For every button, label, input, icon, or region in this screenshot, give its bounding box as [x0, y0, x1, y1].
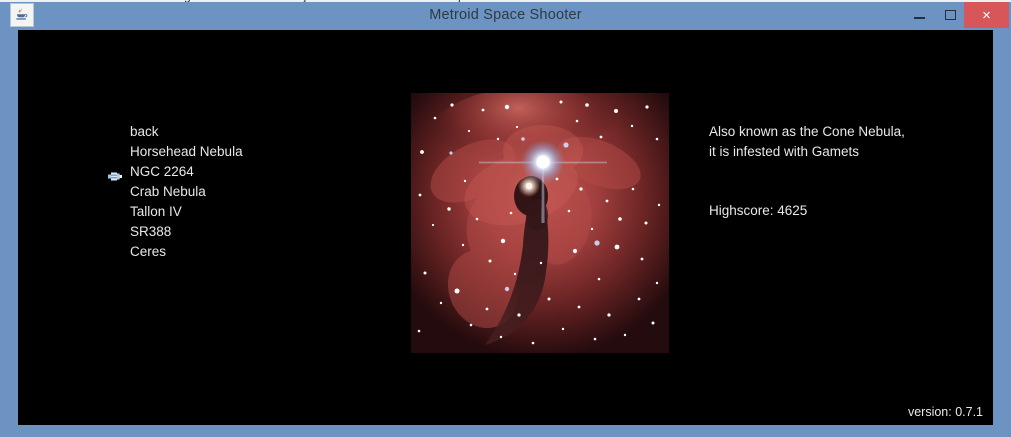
- menu-item-label: Ceres: [130, 242, 166, 262]
- level-description-line-2: it is infested with Gamets: [709, 142, 979, 162]
- minimize-icon[interactable]: [905, 2, 933, 28]
- window-title: Metroid Space Shooter: [0, 7, 1011, 23]
- menu-item-horsehead-nebula[interactable]: Horsehead Nebula: [110, 142, 360, 162]
- menu-item-label: Tallon IV: [130, 202, 182, 222]
- maximize-glyph: [945, 10, 956, 20]
- menu-item-label: Crab Nebula: [130, 182, 206, 202]
- menu-item-tallon-iv[interactable]: Tallon IV: [110, 202, 360, 222]
- maximize-icon[interactable]: [936, 2, 964, 28]
- highscore-label: Highscore: 4625: [709, 203, 807, 218]
- ngc-2264-cone-nebula-image: [411, 93, 669, 353]
- level-description-line-1: Also known as the Cone Nebula,: [709, 122, 979, 142]
- menu-item-sr388[interactable]: SR388: [110, 222, 360, 242]
- level-select-menu: back Horsehead Nebula: [110, 122, 360, 262]
- menu-item-label: NGC 2264: [130, 162, 194, 182]
- screen: File Edit Refactor Navigate Search Proje…: [0, 0, 1011, 437]
- title-bar[interactable]: Metroid Space Shooter ×: [0, 2, 1011, 30]
- application-window: Metroid Space Shooter × back Horsehead N…: [0, 2, 1011, 437]
- menu-item-label: SR388: [130, 222, 171, 242]
- game-canvas[interactable]: back Horsehead Nebula: [18, 30, 993, 425]
- ship-selector-icon: [108, 167, 123, 176]
- menu-item-ngc-2264[interactable]: NGC 2264: [110, 162, 360, 182]
- menu-item-label: Horsehead Nebula: [130, 142, 243, 162]
- menu-item-ceres[interactable]: Ceres: [110, 242, 360, 262]
- level-info-panel: Also known as the Cone Nebula, it is inf…: [709, 122, 979, 162]
- version-label: version: 0.7.1: [908, 405, 983, 419]
- menu-item-back[interactable]: back: [110, 122, 360, 142]
- menu-item-crab-nebula[interactable]: Crab Nebula: [110, 182, 360, 202]
- menu-item-label: back: [130, 122, 159, 142]
- minimize-glyph: [914, 17, 925, 19]
- close-icon[interactable]: ×: [964, 2, 1009, 28]
